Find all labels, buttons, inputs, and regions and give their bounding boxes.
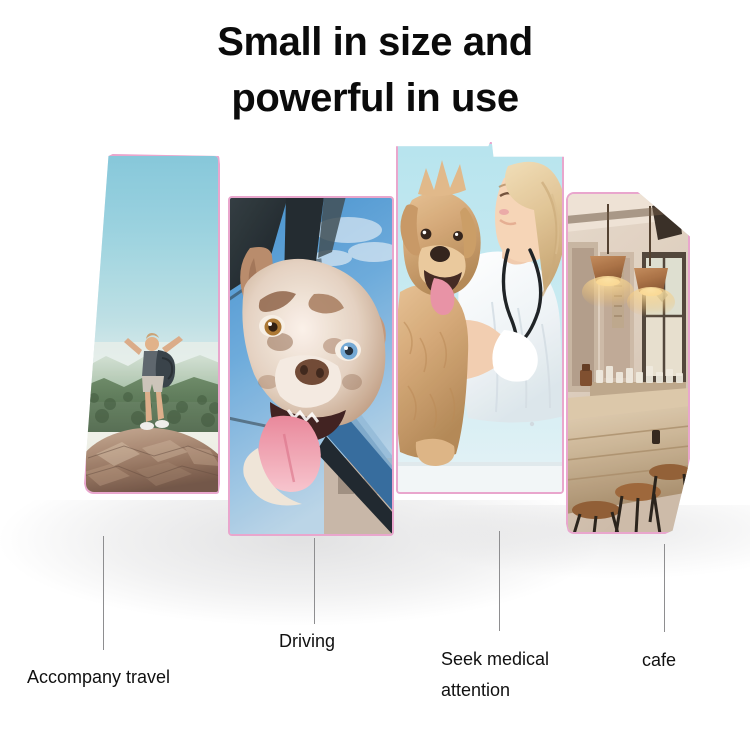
connector-accompany-travel	[103, 536, 104, 650]
page-title: Small in size and powerful in use	[0, 14, 750, 126]
panel-cafe[interactable]	[566, 192, 690, 534]
dog-head-out-car-window-image	[228, 196, 394, 536]
panel-seek-medical-attention[interactable]	[396, 142, 564, 494]
cafe-interior-bar-counter-image	[566, 192, 690, 534]
panel-driving[interactable]	[228, 196, 394, 536]
panel-accompany-travel[interactable]	[84, 154, 220, 494]
title-line-2: powerful in use	[0, 70, 750, 126]
connector-cafe	[664, 544, 665, 632]
hiker-on-mountain-summit-image	[84, 154, 220, 494]
label-seek-medical-attention: Seek medical attention	[441, 644, 591, 706]
label-accompany-travel: Accompany travel	[27, 662, 170, 693]
veterinarian-examining-dog-image	[396, 142, 564, 494]
connector-driving	[314, 538, 315, 624]
connector-seek-medical-attention	[499, 531, 500, 631]
label-driving: Driving	[279, 626, 335, 657]
label-cafe: cafe	[642, 645, 676, 676]
title-line-1: Small in size and	[217, 20, 533, 64]
promo-banner: Small in size and powerful in use	[0, 0, 750, 750]
